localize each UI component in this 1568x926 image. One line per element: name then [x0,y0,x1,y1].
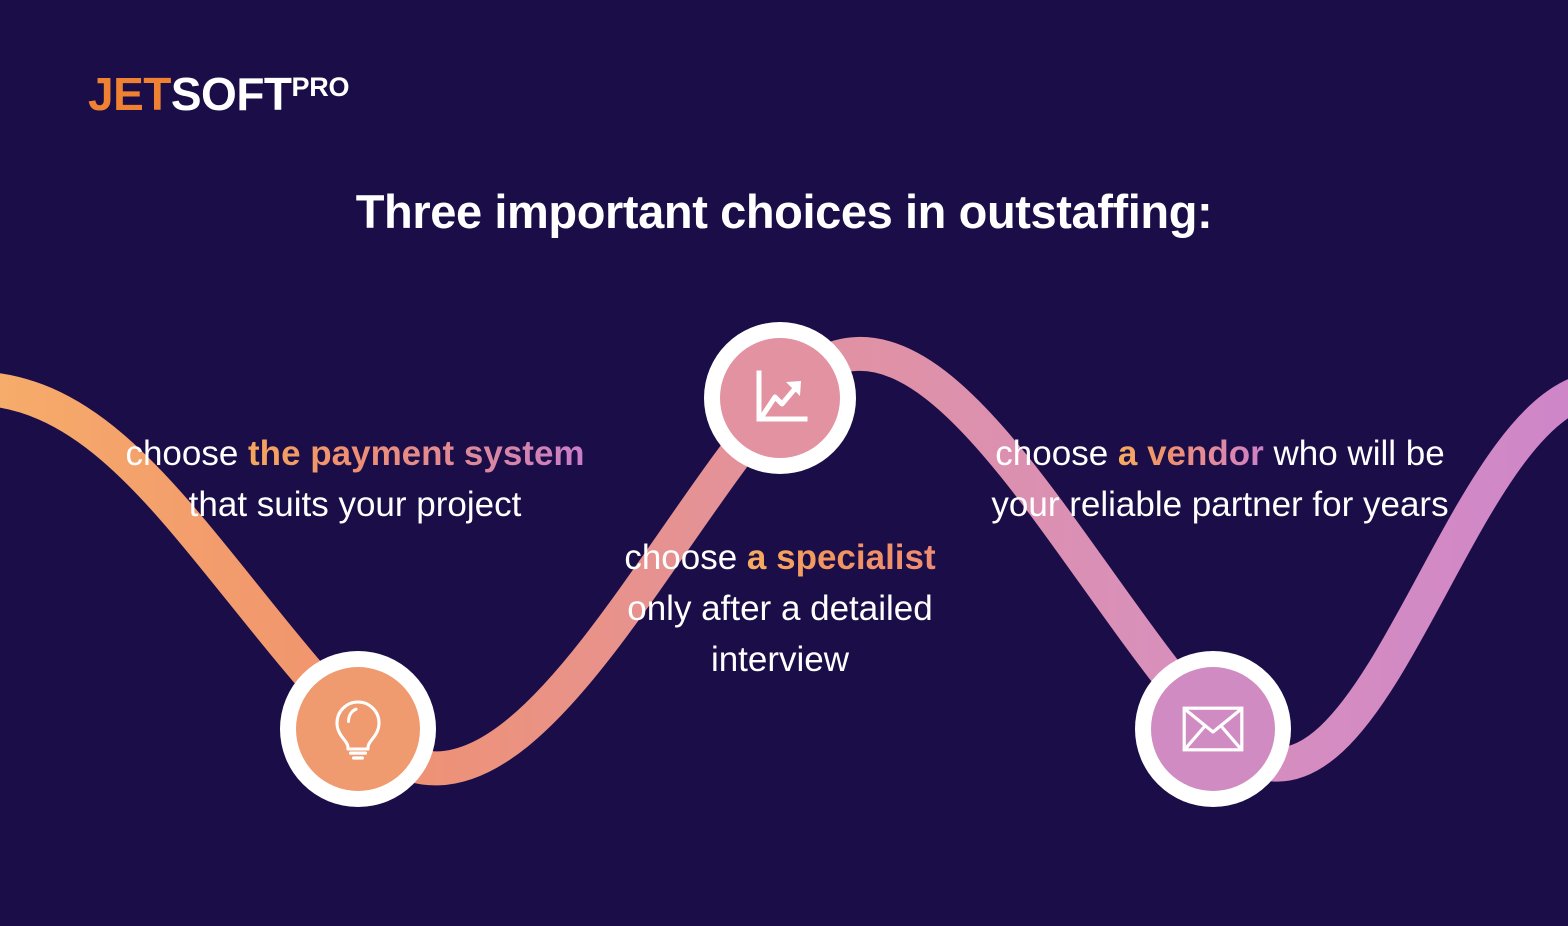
caption-payment-system: choose the payment system that suits you… [120,428,590,530]
caption-2-tail: only after a detailed interview [627,589,932,679]
step-node-2-disc [720,338,840,458]
caption-2-lead: choose [624,538,747,577]
step-node-3[interactable] [1135,651,1291,807]
caption-vendor: choose a vendor who will be your reliabl… [985,428,1455,530]
step-node-2[interactable] [704,322,856,474]
caption-specialist: choose a specialist only after a detaile… [600,532,960,685]
caption-2-highlight: a specialist [747,538,936,577]
caption-1-highlight: the payment system [248,434,585,473]
step-node-1[interactable] [280,651,436,807]
logo-pro: PRO [292,72,350,102]
page-title: Three important choices in outstaffing: [0,186,1568,238]
lightbulb-icon [329,698,387,760]
caption-1-lead: choose [125,434,248,473]
step-node-1-disc [296,667,420,791]
infographic-poster: JETSOFTPRO Three important choices in ou… [0,0,1568,926]
envelope-icon [1182,706,1244,752]
caption-3-lead: choose [995,434,1118,473]
step-node-3-disc [1151,667,1275,791]
brand-logo[interactable]: JETSOFTPRO [88,71,349,117]
growth-chart-icon [752,370,808,426]
logo-jet: JET [88,68,171,120]
caption-3-highlight: a vendor [1118,434,1264,473]
caption-1-tail: that suits your project [189,485,522,524]
logo-soft: SOFT [171,68,292,120]
